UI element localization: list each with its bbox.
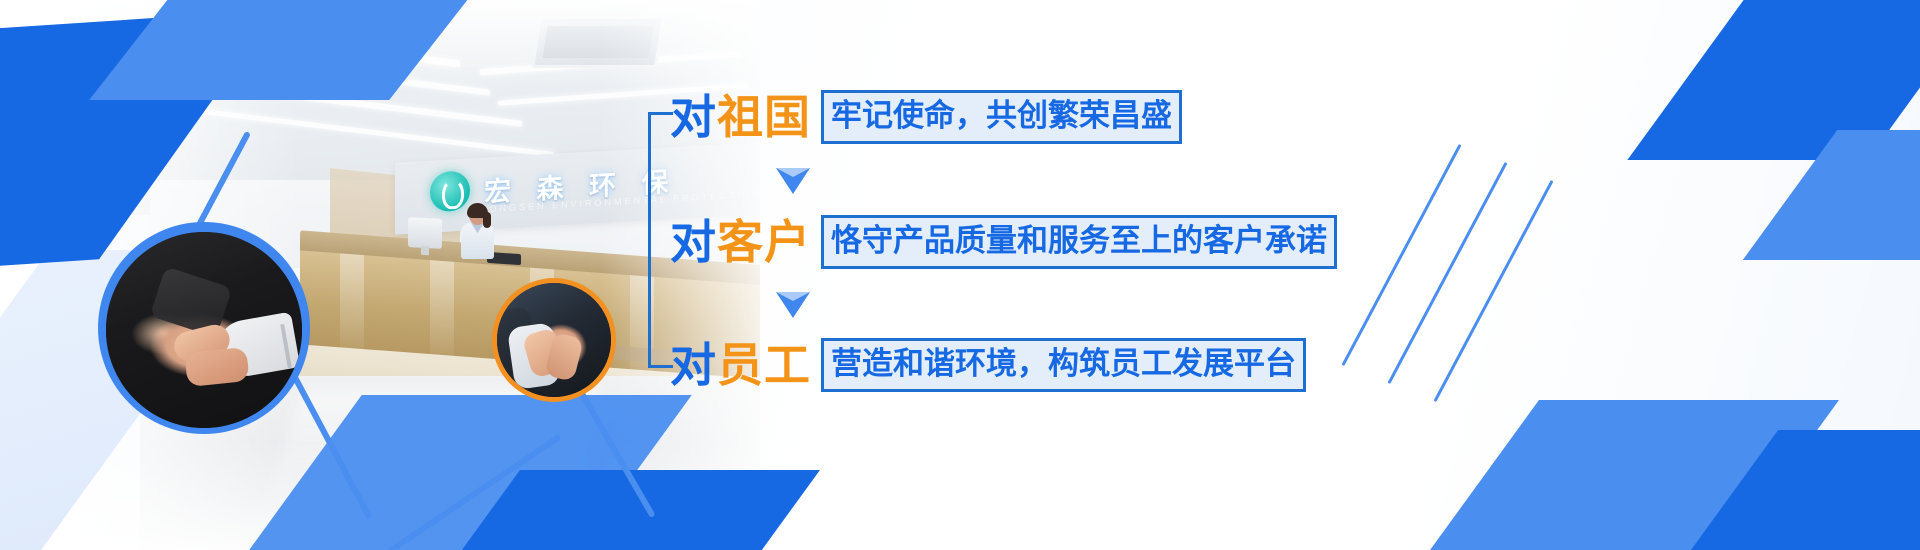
applause-photo [497,283,611,397]
row-3-lead-highlight: 员工 [717,338,811,392]
culture-banner: 宏 森 环 保 HONGSEN ENVIRONMENTAL PROTECTION [0,0,1920,550]
receptionist [455,205,499,267]
arrow-down-icon [776,168,810,194]
row-1-lead-prefix: 对 [670,90,717,144]
culture-statements: 对祖国 牢记使命，共创繁荣昌盛 对客户 恪守产品质量和服务至上的客户承诺 对员工… [648,70,1348,400]
row-1-lead: 对祖国 [670,94,811,140]
row-3-statement: 营造和谐环境，构筑员工发展平台 [821,338,1306,392]
row-2-lead-highlight: 客户 [717,215,811,269]
row-2-lead-prefix: 对 [670,215,717,269]
decor-thin-line-group [1360,130,1660,430]
handshake-photo [106,232,302,428]
row-2-lead: 对客户 [670,219,811,265]
statement-row-1: 对祖国 牢记使命，共创繁荣昌盛 [670,90,1182,144]
monitor [408,217,442,249]
statement-row-2: 对客户 恪守产品质量和服务至上的客户承诺 [670,215,1337,269]
row-3-lead: 对员工 [670,342,811,388]
row-1-statement: 牢记使命，共创繁荣昌盛 [821,90,1182,144]
row-1-lead-highlight: 祖国 [717,90,811,144]
statement-row-3: 对员工 营造和谐环境，构筑员工发展平台 [670,338,1306,392]
arrow-down-icon [776,292,810,318]
row-3-lead-prefix: 对 [670,338,717,392]
row-2-statement: 恪守产品质量和服务至上的客户承诺 [821,215,1337,269]
